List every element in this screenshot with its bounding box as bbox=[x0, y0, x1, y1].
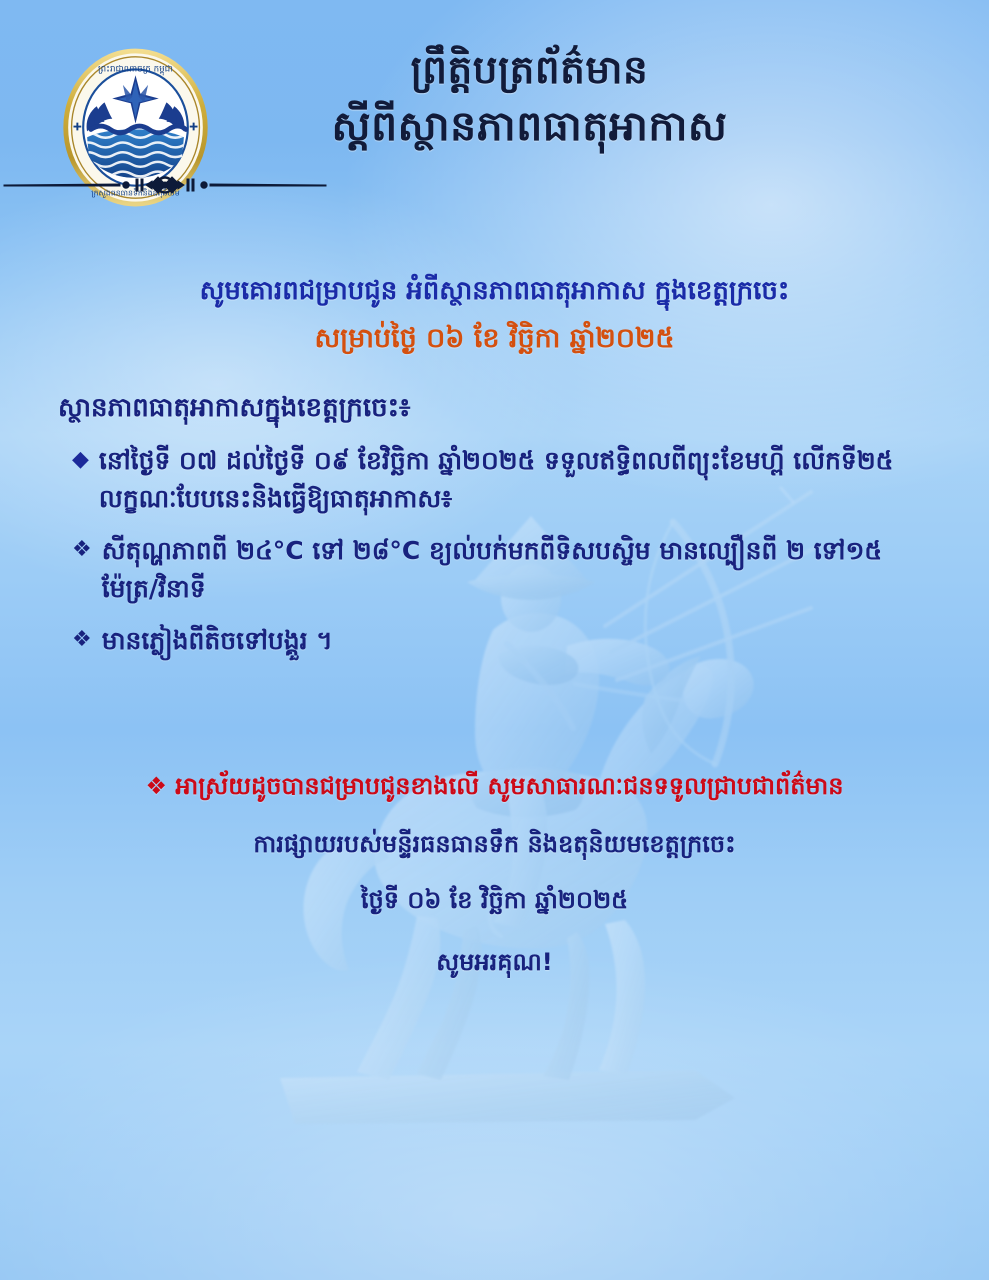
footer-thanks-line: សូមអរគុណ! bbox=[30, 944, 959, 980]
rainfall-text: មានភ្លៀងពីតិចទៅបង្គួរ ។ bbox=[102, 622, 333, 660]
footer-block: ❖ អាស្រ័យដូចបានជម្រាបជូនខាងលើ សូមសាធារណៈ… bbox=[0, 768, 989, 980]
diamond-bullet-icon: ◆ bbox=[72, 442, 89, 477]
floret-bullet-icon: ❖ bbox=[72, 622, 92, 657]
list-item: ◆ នៅថ្ងៃទី ០៧ ដល់ថ្ងៃទី ០៩ ខែវិច្ឆិកា ឆ្… bbox=[58, 442, 947, 518]
floret-bullet-icon: ❖ bbox=[72, 532, 92, 567]
footer-issuer-line: ការផ្សាយរបស់មន្ទីរធនធានទឹក និងឧតុនិយមខេត… bbox=[30, 826, 959, 862]
temperature-wind-text: សីតុណ្ហភាពពី ២៤°C ទៅ ២៨°C ខ្យល់បក់មកពីទិ… bbox=[102, 532, 947, 608]
weather-bulletin-poster: ព្រះរាជាណាចក្រ កម្ពុជា ក្រសួងធនធានទឹកនិង… bbox=[0, 0, 989, 1280]
list-item: ❖ មានភ្លៀងពីតិចទៅបង្គួរ ។ bbox=[58, 622, 947, 660]
subject-line-2-date: សម្រាប់ថ្ងៃ ០៦ ខែ វិច្ឆិកា ឆ្នាំ២០២៥ bbox=[0, 317, 989, 360]
list-item: ❖ សីតុណ្ហភាពពី ២៤°C ទៅ ២៨°C ខ្យល់បក់មកពី… bbox=[58, 532, 947, 608]
ornamental-divider-icon bbox=[0, 172, 330, 198]
subject-block: សូមគោរពជម្រាបជូន អំពីស្ថានភាពធាតុអាកាស ក… bbox=[0, 272, 989, 360]
svg-text:ព្រះរាជាណាចក្រ កម្ពុជា: ព្រះរាជាណាចក្រ កម្ពុជា bbox=[98, 64, 173, 75]
subject-line-1: សូមគោរពជម្រាបជូន អំពីស្ថានភាពធាតុអាកាស ក… bbox=[0, 272, 989, 311]
footer-date-line: ថ្ងៃទី ០៦ ខែ វិច្ឆិកា ឆ្នាំ២០២៥ bbox=[30, 882, 959, 918]
forecast-period-text: នៅថ្ងៃទី ០៧ ដល់ថ្ងៃទី ០៩ ខែវិច្ឆិកា ឆ្នា… bbox=[99, 442, 947, 518]
poster-header: ព្រះរាជាណាចក្រ កម្ពុជា ក្រសួងធនធានទឹកនិង… bbox=[0, 0, 989, 154]
footer-notice-line: ❖ អាស្រ័យដូចបានជម្រាបជូនខាងលើ សូមសាធារណៈ… bbox=[30, 768, 959, 804]
body-heading: ស្ថានភាពធាតុអាកាសក្នុងខេត្តក្រចេះ៖ bbox=[58, 389, 947, 428]
body-block: ស្ថានភាពធាតុអាកាសក្នុងខេត្តក្រចេះ៖ ◆ នៅថ… bbox=[0, 389, 989, 660]
